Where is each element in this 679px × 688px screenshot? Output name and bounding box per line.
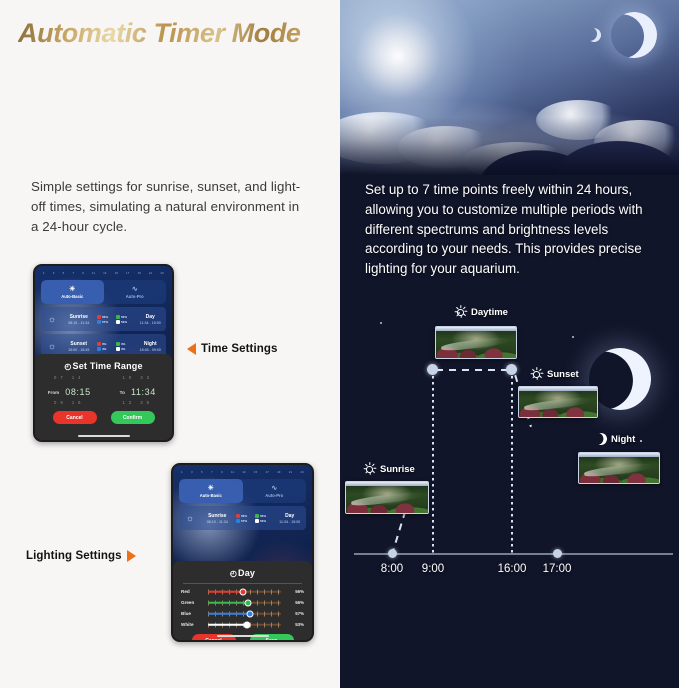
slider-row-white: White 53% xyxy=(173,617,312,628)
slider-fill xyxy=(208,601,248,604)
swatch-green: 56% xyxy=(255,514,272,518)
slider-fill xyxy=(208,612,250,615)
aquarium-photo-night xyxy=(578,452,660,484)
node-9am[interactable] xyxy=(427,364,438,375)
wave-icon: ∿ xyxy=(271,485,277,492)
slider-value: 57% xyxy=(286,611,304,616)
right-panel: Set up to 7 time points freely within 24… xyxy=(340,0,679,688)
label-text: Daytime xyxy=(471,307,508,318)
sheet-actions: Cancel Confirm xyxy=(35,405,172,424)
ruler-tick: 17 xyxy=(266,471,269,474)
to-value[interactable]: 11:34 xyxy=(131,387,156,397)
confirm-button[interactable]: Confirm xyxy=(111,411,155,424)
tank-lid xyxy=(436,327,516,331)
aquarium-photo-sunrise xyxy=(345,481,429,514)
ruler-tick: 5 xyxy=(63,272,65,275)
to-spinner-above[interactable]: 10 33 xyxy=(104,371,173,380)
aquarium-photo-sunset xyxy=(518,386,598,418)
slider-label: Blue xyxy=(181,611,203,616)
tab-label: Auto-Pro xyxy=(126,294,144,299)
slider-value: 56% xyxy=(286,589,304,594)
swatch-blue: 4% xyxy=(97,347,114,351)
mode-tabs: ☀ Auto-Basic ∿ Auto-Pro xyxy=(179,479,306,503)
tab-label: Auto-Basic xyxy=(61,294,83,299)
label-text: Night xyxy=(611,434,635,445)
axis-node-8am[interactable] xyxy=(388,549,397,558)
schedule-row[interactable]: ☼ Sunrise 08:15 - 11:34 56% 56% 57% 53% … xyxy=(179,506,306,530)
from-label: From xyxy=(48,390,59,395)
to-label: To xyxy=(120,390,125,395)
aquarium-photo-daytime xyxy=(435,326,517,359)
tank-lid xyxy=(579,453,659,457)
to-spinner-below[interactable]: 12 35 xyxy=(104,397,173,405)
slider-fill xyxy=(208,590,243,593)
swatch-red: 56% xyxy=(97,315,114,319)
phone-mockup-lighting-settings: 1 3 5 7 9 11 13 15 17 19 21 23 ☀ Auto-Ba… xyxy=(171,463,314,642)
slider-value: 56% xyxy=(286,600,304,605)
timeline-ruler: 1 3 5 7 9 11 13 15 17 19 21 23 xyxy=(173,468,312,477)
slider-knob[interactable] xyxy=(245,599,252,606)
ruler-tick: 21 xyxy=(149,272,152,275)
swatch-green: 3% xyxy=(116,342,133,346)
sun-icon: ☀ xyxy=(208,485,214,492)
label-night: Night xyxy=(595,433,635,445)
from-value[interactable]: 08:15 xyxy=(65,387,91,397)
period-day[interactable]: Day 11:34 - 15:00 xyxy=(135,307,167,331)
tab-auto-pro[interactable]: ∿ Auto-Pro xyxy=(104,280,167,304)
swatch-green: 56% xyxy=(116,315,133,319)
axis-tick-label: 8:00 xyxy=(381,563,403,575)
period-name: Day xyxy=(146,314,155,320)
slider-knob[interactable] xyxy=(244,621,251,628)
slider-label: Red xyxy=(181,589,203,594)
green-slider[interactable] xyxy=(208,599,281,606)
period-name: Day xyxy=(285,513,294,519)
tank-lid xyxy=(519,387,597,391)
wave-icon: ∿ xyxy=(132,286,138,293)
ruler-tick: 13 xyxy=(103,272,106,275)
blue-slider[interactable] xyxy=(208,610,281,617)
ruler-tick: 13 xyxy=(242,471,245,474)
tab-label: Auto-Pro xyxy=(265,493,283,498)
slider-knob[interactable] xyxy=(240,588,247,595)
label-daytime: Daytime xyxy=(454,306,508,319)
sky-hero-photo xyxy=(340,0,679,175)
timeline-diagram: Sunrise Daytime xyxy=(340,300,679,688)
tab-auto-pro[interactable]: ∿ Auto-Pro xyxy=(243,479,307,503)
slider-value: 53% xyxy=(286,622,304,627)
swatch-white: 3% xyxy=(116,347,133,351)
sunrise-icon: ☼ xyxy=(179,506,201,530)
ruler-tick: 11 xyxy=(231,471,234,474)
swatch-white: 53% xyxy=(116,320,133,324)
riser-9am xyxy=(432,370,434,556)
lighting-sheet: ◴Day Red 56% Green xyxy=(173,561,312,640)
phone-mockup-time-settings: 1 3 5 7 9 11 13 15 17 19 21 23 ☀ Auto-Ba… xyxy=(33,264,174,442)
ruler-tick: 9 xyxy=(221,471,223,474)
riser-16-00 xyxy=(511,370,513,556)
left-panel: Automatic Timer Mode Simple settings for… xyxy=(0,0,340,688)
timeline-ruler: 1 3 5 7 9 11 13 15 17 19 21 23 xyxy=(35,269,172,278)
period-name: Sunrise xyxy=(70,314,88,320)
tab-auto-basic[interactable]: ☀ Auto-Basic xyxy=(41,280,104,304)
axis-tick-label: 9:00 xyxy=(422,563,444,575)
caption-time-settings: Time Settings xyxy=(187,343,278,355)
triangle-left-icon xyxy=(187,343,196,355)
sunrise-icon: ☼ xyxy=(41,307,63,331)
ruler-tick: 19 xyxy=(277,471,280,474)
mountain-silhouette xyxy=(340,117,679,175)
slider-fill xyxy=(208,623,247,626)
clock-icon: ◴ xyxy=(230,569,237,578)
label-text: Sunrise xyxy=(380,464,415,475)
intro-paragraph: Simple settings for sunrise, sunset, and… xyxy=(31,177,309,238)
home-indicator xyxy=(217,635,269,637)
label-sunset: Sunset xyxy=(530,368,579,381)
spinner-values-above: 07 14 10 33 xyxy=(35,371,172,380)
axis-node-17-00[interactable] xyxy=(553,549,562,558)
sunrise-icon xyxy=(363,463,376,476)
sheet-title-text: Set Time Range xyxy=(73,361,143,371)
caption-label: Lighting Settings xyxy=(26,550,122,562)
star xyxy=(640,440,642,442)
channel-swatches: 56% 56% 57% 53% xyxy=(95,307,135,331)
tank-lid xyxy=(346,482,428,486)
ruler-tick: 23 xyxy=(300,471,303,474)
ruler-tick: 5 xyxy=(201,471,203,474)
sunset-icon xyxy=(530,368,543,381)
caption-lighting-settings: Lighting Settings xyxy=(26,550,136,562)
period-name: Night xyxy=(144,341,157,347)
schedule-row[interactable]: ☼ Sunrise 08:15 - 11:34 56% 56% 57% 53% … xyxy=(41,307,166,331)
time-axis xyxy=(354,553,673,555)
crescent-moon-icon xyxy=(605,6,663,64)
period-time: 18:45 - 09:00 xyxy=(140,348,161,352)
slider-label: Green xyxy=(181,600,203,605)
from-spinner[interactable]: From 08:15 xyxy=(35,387,104,397)
clock-icon: ◴ xyxy=(64,362,71,371)
period-name: Sunrise xyxy=(208,513,226,519)
slider-row-green: Green 56% xyxy=(173,595,312,606)
to-spinner[interactable]: To 11:34 xyxy=(104,387,173,397)
period-time: 11:34 - 15:00 xyxy=(140,321,161,325)
sun-icon xyxy=(454,306,467,319)
slider-label: White xyxy=(181,622,203,627)
period-day[interactable]: Day 11:34 - 15:00 xyxy=(274,506,307,530)
ruler-tick: 19 xyxy=(138,272,141,275)
ruler-tick: 11 xyxy=(92,272,95,275)
tab-label: Auto-Basic xyxy=(200,493,222,498)
promo-page: Automatic Timer Mode Simple settings for… xyxy=(0,0,679,688)
caption-label: Time Settings xyxy=(201,343,278,355)
set-time-range-sheet: ◴Set Time Range 07 14 10 33 From 08:15 T… xyxy=(35,354,172,440)
tab-auto-basic[interactable]: ☀ Auto-Basic xyxy=(179,479,243,503)
node-16-00[interactable] xyxy=(506,364,517,375)
white-slider[interactable] xyxy=(208,621,281,628)
cancel-button[interactable]: Cancel xyxy=(53,411,97,424)
ruler-tick: 21 xyxy=(289,471,292,474)
sheet-title: ◴Day xyxy=(173,561,312,578)
feature-paragraph: Set up to 7 time points freely within 24… xyxy=(365,180,665,279)
ruler-tick: 7 xyxy=(211,471,213,474)
label-text: Sunset xyxy=(547,369,579,380)
slider-row-red: Red 56% xyxy=(173,584,312,595)
from-spinner-above[interactable]: 07 14 xyxy=(35,371,104,380)
mode-tabs: ☀ Auto-Basic ∿ Auto-Pro xyxy=(41,280,166,304)
period-sunrise[interactable]: Sunrise 08:15 - 11:34 xyxy=(63,307,95,331)
swatch-white: 53% xyxy=(255,519,272,523)
ruler-tick: 15 xyxy=(115,272,118,275)
slider-knob[interactable] xyxy=(247,610,254,617)
red-slider[interactable] xyxy=(208,588,281,595)
axis-tick-label: 16:00 xyxy=(498,563,527,575)
period-name: Sunset xyxy=(70,341,87,347)
spinner-values-below: 09 16 12 35 xyxy=(35,397,172,405)
swatch-red: 3% xyxy=(97,342,114,346)
ruler-tick: 9 xyxy=(82,272,84,275)
ruler-tick: 3 xyxy=(191,471,193,474)
swatch-red: 56% xyxy=(236,514,253,518)
star xyxy=(572,336,574,338)
slider-row-blue: Blue 57% xyxy=(173,606,312,617)
plateau-line xyxy=(436,369,512,371)
period-time: 08:15 - 11:34 xyxy=(207,520,228,524)
sun-icon: ☀ xyxy=(69,286,75,293)
period-sunrise[interactable]: Sunrise 08:15 - 11:34 xyxy=(201,506,234,530)
label-sunrise: Sunrise xyxy=(363,463,415,476)
period-time: 11:34 - 15:00 xyxy=(279,520,300,524)
channel-swatches: 56% 56% 57% 53% xyxy=(234,506,274,530)
period-time: 15:00 - 18:45 xyxy=(68,348,89,352)
ruler-tick: 17 xyxy=(126,272,129,275)
time-spinners: From 08:15 To 11:34 xyxy=(35,380,172,397)
ruler-tick: 1 xyxy=(43,272,45,275)
star xyxy=(380,322,382,324)
sheet-title-text: Day xyxy=(238,568,255,578)
ruler-tick: 23 xyxy=(160,272,163,275)
sheet-title: ◴Set Time Range xyxy=(35,354,172,371)
period-time: 08:15 - 11:34 xyxy=(68,321,89,325)
ruler-tick: 3 xyxy=(53,272,55,275)
moon-icon xyxy=(595,433,607,445)
small-moon-icon xyxy=(584,25,603,44)
ruler-tick: 15 xyxy=(254,471,257,474)
from-spinner-below[interactable]: 09 16 xyxy=(35,397,104,405)
page-title: Automatic Timer Mode xyxy=(18,18,301,49)
ruler-tick: 1 xyxy=(181,471,183,474)
swatch-blue: 57% xyxy=(97,320,114,324)
triangle-right-icon xyxy=(127,550,136,562)
ruler-tick: 7 xyxy=(72,272,74,275)
home-indicator xyxy=(78,435,130,437)
swatch-blue: 57% xyxy=(236,519,253,523)
axis-tick-label: 17:00 xyxy=(543,563,572,575)
